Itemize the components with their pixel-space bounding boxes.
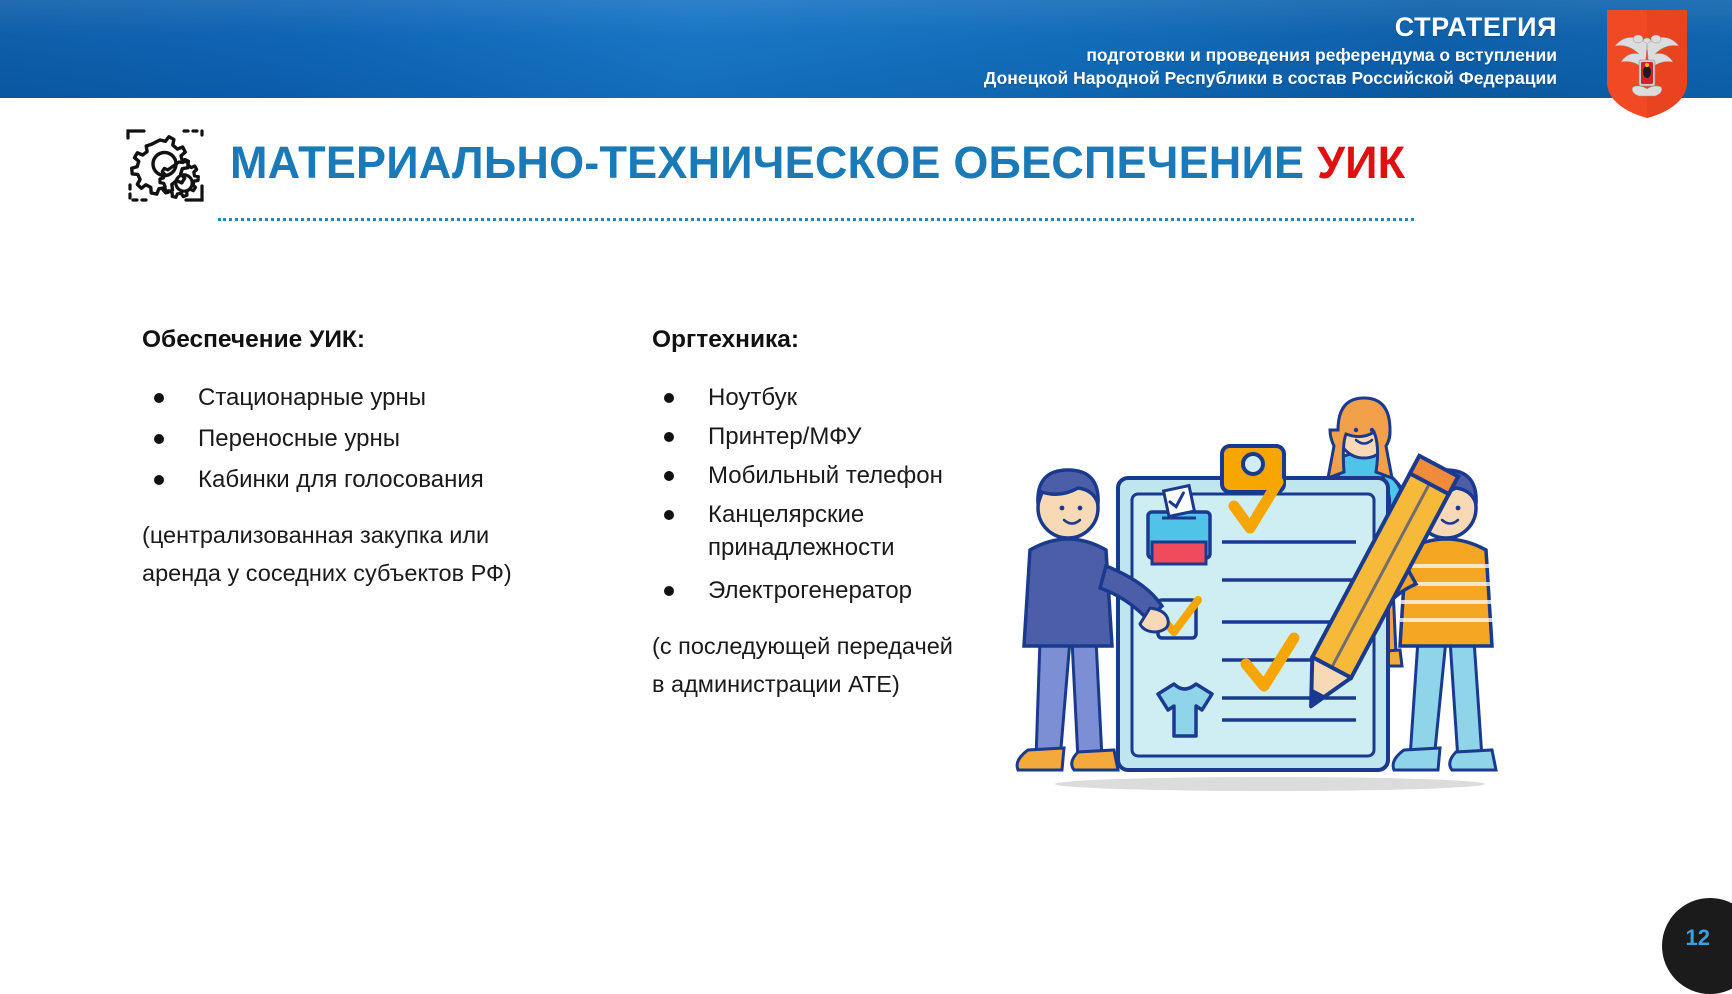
list-item: Принтер/МФУ xyxy=(652,420,1027,453)
left-column-note-line-1: (централизованная закупка или xyxy=(142,516,612,554)
page-number: 12 xyxy=(1686,926,1710,950)
list-item-label: Мобильный телефон xyxy=(708,462,943,489)
bullet-dot-icon xyxy=(154,434,164,444)
header-title: СТРАТЕГИЯ xyxy=(984,12,1557,42)
page-title: МАТЕРИАЛЬНО-ТЕХНИЧЕСКОЕ ОБЕСПЕЧЕНИЕ УИК xyxy=(230,134,1405,192)
right-content-column: Оргтехника: Ноутбук Принтер/МФУ Мобильны… xyxy=(652,325,1027,703)
bullet-dot-icon xyxy=(154,475,164,485)
right-column-heading: Оргтехника: xyxy=(652,325,1027,355)
list-item: Мобильный телефон xyxy=(652,459,1027,492)
list-item: Электрогенератор xyxy=(652,574,1027,607)
list-item: Кабинки для голосования xyxy=(142,463,612,496)
bullet-dot-icon xyxy=(664,432,674,442)
list-item-label: Стационарные урны xyxy=(198,384,426,411)
list-item-label: Электрогенератор xyxy=(708,577,912,604)
list-item-label: Принтер/МФУ xyxy=(708,423,861,450)
slide-header: СТРАТЕГИЯ подготовки и проведения рефере… xyxy=(0,0,1732,98)
list-item-label: Кабинки для голосования xyxy=(198,466,484,493)
list-item: Канцелярские принадлежности xyxy=(652,498,1027,564)
bullet-dot-icon xyxy=(664,393,674,403)
title-dotted-divider xyxy=(218,218,1414,221)
left-column-note: (централизованная закупка или аренда у с… xyxy=(142,516,612,592)
bullet-dot-icon xyxy=(664,510,674,520)
list-item-label: Канцелярские принадлежности xyxy=(708,501,895,561)
left-column-heading: Обеспечение УИК: xyxy=(142,325,612,355)
left-column-note-line-2: аренда у соседних субъектов РФ) xyxy=(142,554,612,592)
right-column-note-line-2: в администрации АТЕ) xyxy=(652,665,1027,703)
header-subtitle-line-2: Донецкой Народной Республики в состав Ро… xyxy=(984,67,1557,90)
list-item-label: Ноутбук xyxy=(708,384,797,411)
page-title-accent: УИК xyxy=(1317,137,1405,188)
voting-checklist-illustration xyxy=(1000,250,1540,810)
right-column-list: Ноутбук Принтер/МФУ Мобильный телефон Ка… xyxy=(652,381,1027,607)
list-item: Стационарные урны xyxy=(142,381,612,414)
right-column-note-line-1: (с последующей передачей xyxy=(652,627,1027,665)
page-title-main: МАТЕРИАЛЬНО-ТЕХНИЧЕСКОЕ ОБЕСПЕЧЕНИЕ xyxy=(230,137,1304,188)
list-item: Переносные урны xyxy=(142,422,612,455)
gears-icon xyxy=(122,128,208,206)
bullet-dot-icon xyxy=(154,393,164,403)
slide-title-row: МАТЕРИАЛЬНО-ТЕХНИЧЕСКОЕ ОБЕСПЕЧЕНИЕ УИК xyxy=(122,118,1452,210)
dnr-coat-of-arms-icon xyxy=(1605,8,1689,120)
list-item: Ноутбук xyxy=(652,381,1027,414)
list-item-label: Переносные урны xyxy=(198,425,400,452)
header-text-block: СТРАТЕГИЯ подготовки и проведения рефере… xyxy=(984,12,1557,90)
right-column-note: (с последующей передачей в администрации… xyxy=(652,627,1027,703)
left-content-column: Обеспечение УИК: Стационарные урны Перен… xyxy=(142,325,612,592)
header-subtitle-line-1: подготовки и проведения референдума о вс… xyxy=(984,44,1557,67)
bullet-dot-icon xyxy=(664,586,674,596)
left-column-list: Стационарные урны Переносные урны Кабинк… xyxy=(142,381,612,496)
bullet-dot-icon xyxy=(664,471,674,481)
